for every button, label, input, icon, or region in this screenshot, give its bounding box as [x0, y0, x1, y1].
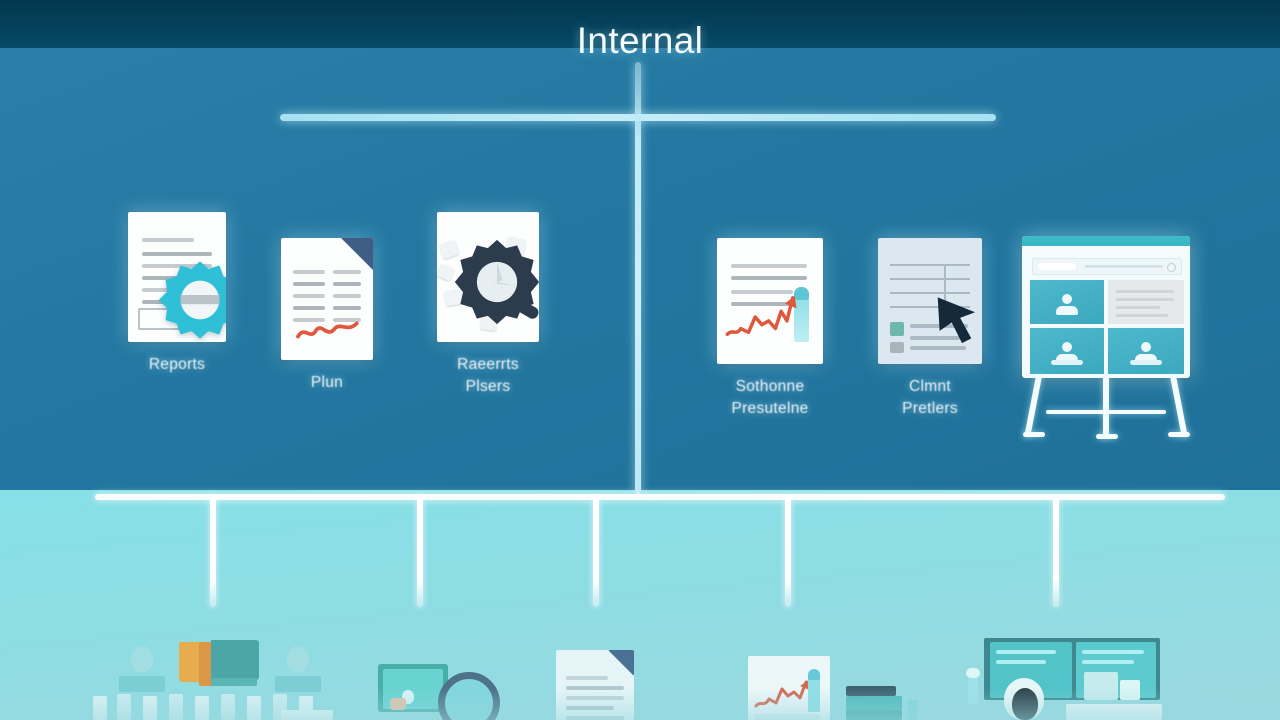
vertical-divider [635, 62, 641, 494]
node-presentation-easel[interactable] [1022, 236, 1190, 378]
signature-icon [295, 316, 370, 344]
node-label-line1: Raeerrts [393, 354, 583, 376]
document-magnifier-icon [437, 212, 539, 342]
trend-line-icon [725, 292, 820, 342]
node-label-line2: Pretlers [835, 398, 1025, 420]
presentation-slide: Internal Reports [0, 0, 1280, 720]
presentation-easel-icon [1022, 236, 1190, 378]
document-gear-icon [128, 212, 226, 342]
node-reports[interactable]: Reports [128, 212, 226, 342]
person-icon [1056, 294, 1078, 320]
easel-quadrant-1 [1030, 280, 1104, 324]
bottom-connector-2 [417, 497, 423, 607]
node-label-line1: Clmnt [835, 376, 1025, 398]
cursor-arrow-icon [934, 284, 982, 348]
easel-quadrant-2 [1108, 280, 1184, 324]
node-plan[interactable]: Plun [281, 238, 373, 360]
legend-swatch [890, 322, 904, 336]
search-placeholder-line [1085, 265, 1163, 268]
easel-top-bar [1022, 236, 1190, 246]
easel-quadrant-4 [1108, 328, 1184, 374]
magnifier-icon [451, 238, 539, 326]
bottom-connector-1 [210, 497, 216, 607]
search-input[interactable] [1032, 258, 1182, 275]
easel-foot [1096, 434, 1118, 439]
table-cursor-icon [878, 238, 982, 364]
node-research-papers[interactable]: Raeerrts Plsers [437, 212, 539, 342]
bottom-connector-3 [593, 497, 599, 607]
node-client-presentation[interactable]: Clmnt Pretlers [878, 238, 982, 364]
bottom-connector-5 [1053, 497, 1059, 607]
node-software-presentation[interactable]: Sothonne Presutelne [717, 238, 823, 364]
search-icon [1167, 263, 1176, 272]
search-label [1038, 263, 1076, 270]
report-chart-icon [717, 238, 823, 364]
page-fold [341, 238, 373, 270]
gear-icon [158, 258, 226, 342]
signed-document-icon [281, 238, 373, 360]
bottom-connector-4 [785, 497, 791, 607]
node-label-line2: Plsers [393, 376, 583, 398]
page-title: Internal [0, 20, 1280, 62]
legend-swatch [890, 342, 904, 353]
bottom-fade [0, 688, 1280, 720]
easel-foot [1023, 432, 1045, 437]
easel-crossbar [1046, 410, 1166, 414]
easel-quadrant-3 [1030, 328, 1104, 374]
easel-foot [1168, 432, 1190, 437]
easel-leg [1103, 376, 1109, 438]
